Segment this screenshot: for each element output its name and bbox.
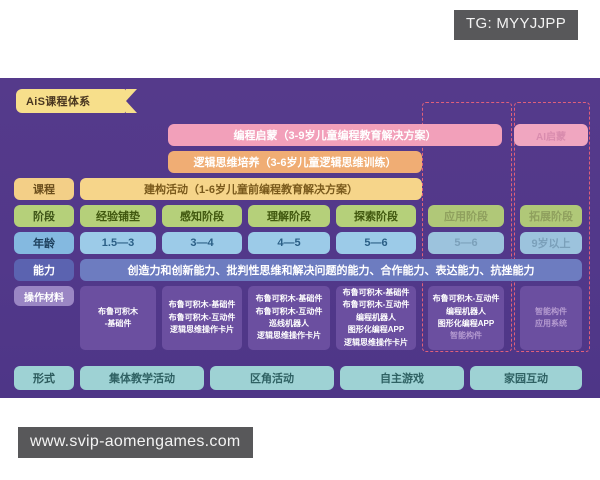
brand-tag: AiS课程体系	[16, 89, 126, 113]
course-bar-logic[interactable]: 逻辑思维培养（3-6岁儿童逻辑思维训练）	[168, 151, 422, 173]
course-bar-ai[interactable]: AI启蒙	[514, 124, 588, 146]
course-bar-programming[interactable]: 编程启蒙（3-9岁儿童编程教育解决方案）	[168, 124, 502, 146]
stage-cell-6[interactable]: 拓展阶段	[520, 205, 582, 227]
row-label-age: 年龄	[14, 232, 74, 254]
material-cell-4[interactable]: 布鲁可积木-基础件 布鲁可积木-互动件 编程机器人 图形化编程APP 逻辑思维操…	[336, 286, 416, 350]
age-cell-4[interactable]: 5—6	[336, 232, 416, 254]
form-cell-2[interactable]: 区角活动	[210, 366, 334, 390]
row-label-stage: 阶段	[14, 205, 74, 227]
curriculum-chart-panel: AiS课程体系 编程启蒙（3-9岁儿童编程教育解决方案） AI启蒙 逻辑思维培养…	[0, 78, 600, 398]
material-cell-2[interactable]: 布鲁可积木-基础件 布鲁可积木-互动件 逻辑思维操作卡片	[162, 286, 242, 350]
material-cell-6[interactable]: 智能构件 应用系统	[520, 286, 582, 350]
age-cell-1[interactable]: 1.5—3	[80, 232, 156, 254]
stage-cell-5[interactable]: 应用阶段	[428, 205, 504, 227]
age-cell-2[interactable]: 3—4	[162, 232, 242, 254]
row-label-material: 操作材料	[14, 286, 74, 306]
form-cell-3[interactable]: 自主游戏	[340, 366, 464, 390]
ability-bar[interactable]: 创造力和创新能力、批判性思维和解决问题的能力、合作能力、表达能力、抗挫能力	[80, 259, 582, 281]
age-cell-6[interactable]: 9岁以上	[520, 232, 582, 254]
age-cell-5[interactable]: 5—6	[428, 232, 504, 254]
row-label-ability: 能力	[14, 259, 74, 281]
material-cell-1[interactable]: 布鲁可积木 -基础件	[80, 286, 156, 350]
watermark-top: TG: MYYJJPP	[454, 10, 578, 40]
form-cell-4[interactable]: 家园互动	[470, 366, 582, 390]
stage-cell-2[interactable]: 感知阶段	[162, 205, 242, 227]
material-cell-3[interactable]: 布鲁可积木-基础件 布鲁可积木-互动件 巡线机器人 逻辑思维操作卡片	[248, 286, 330, 350]
brand-tag-label: AiS课程体系	[26, 93, 90, 109]
age-cell-3[interactable]: 4—5	[248, 232, 330, 254]
row-label-course: 课程	[14, 178, 74, 200]
course-bar-construction[interactable]: 建构活动（1-6岁儿童前编程教育解决方案）	[80, 178, 422, 200]
stage-cell-1[interactable]: 经验铺垫	[80, 205, 156, 227]
watermark-bottom: www.svip-aomengames.com	[18, 427, 253, 458]
row-label-form: 形式	[14, 366, 74, 390]
material-cell-5[interactable]: 布鲁可积木-互动件 编程机器人 图形化编程APP 智能构件	[428, 286, 504, 350]
stage-cell-4[interactable]: 探索阶段	[336, 205, 416, 227]
stage-cell-3[interactable]: 理解阶段	[248, 205, 330, 227]
form-cell-1[interactable]: 集体教学活动	[80, 366, 204, 390]
